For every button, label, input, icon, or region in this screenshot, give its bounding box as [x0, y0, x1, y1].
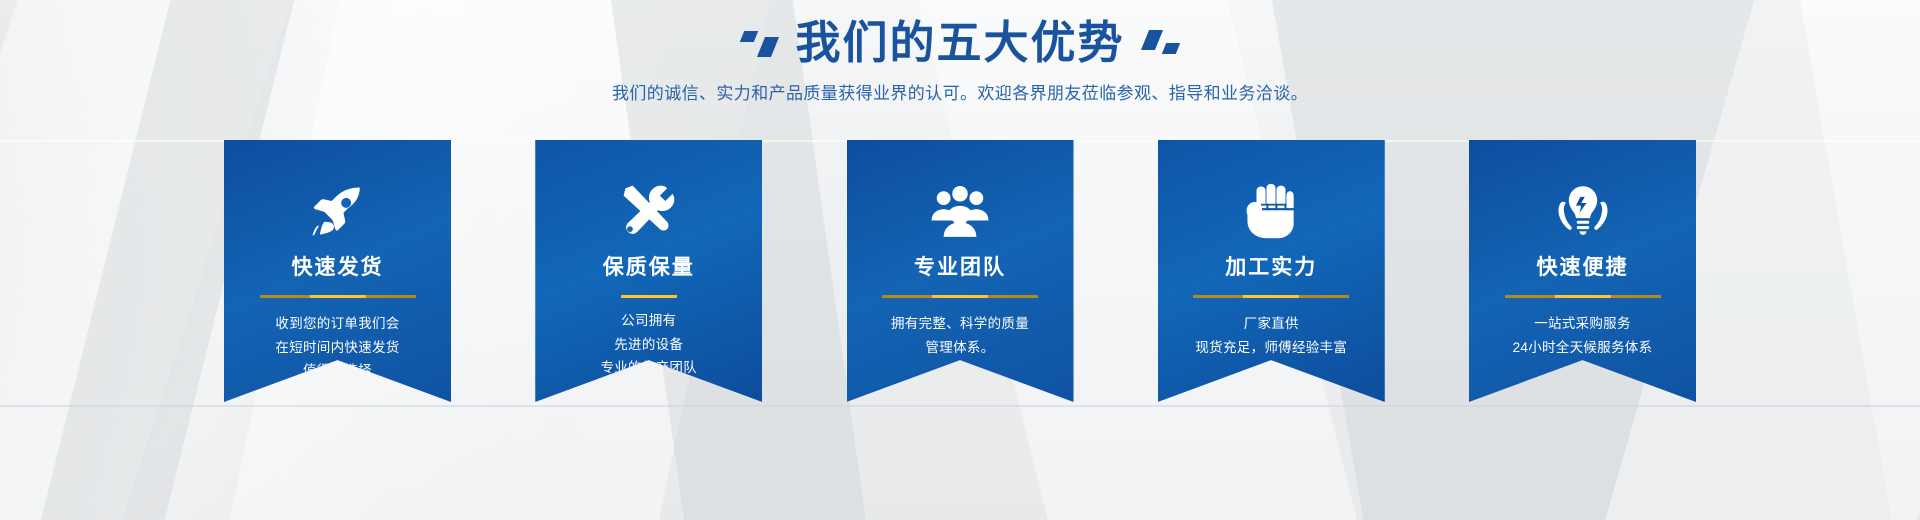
card-divider	[1505, 295, 1661, 298]
card-body-line: 厂家直供	[1195, 312, 1347, 336]
bg-divider-line	[0, 405, 1920, 407]
card-divider	[882, 295, 1038, 298]
advantage-card-convenience[interactable]: 快速便捷 一站式采购服务 24小时全天候服务体系	[1469, 140, 1696, 402]
advantages-banner: 我们的五大优势 我们的诚信、实力和产品质量获得业界的认可。欢迎各界朋友莅临参观、…	[0, 0, 1920, 520]
slash-ornament-right-icon	[1145, 31, 1178, 54]
advantage-card-quality[interactable]: 保质保量 公司拥有 先进的设备 专业的生产团队 专业的技术工人	[535, 140, 762, 402]
card-body: 收到您的订单我们会 在短时间内快速发货 值得您选择	[275, 312, 399, 383]
card-body-line: 拥有完整、科学的质量	[891, 312, 1029, 336]
card-body-line: 值得您选择	[275, 359, 399, 383]
card-divider	[260, 295, 416, 298]
card-title: 快速便捷	[1537, 256, 1629, 279]
card-title: 保质保量	[603, 256, 695, 279]
card-body-line: 现货充足，师傅经验丰富	[1195, 336, 1347, 360]
card-body-line: 公司拥有	[600, 309, 697, 333]
card-body-line: 在短时间内快速发货	[275, 336, 399, 360]
card-body: 拥有完整、科学的质量 管理体系。	[891, 312, 1029, 359]
rocket-icon	[309, 182, 367, 240]
lightbulb-hands-icon	[1552, 182, 1614, 240]
card-body-line: 管理体系。	[891, 336, 1029, 360]
title-row: 我们的五大优势	[0, 0, 1920, 68]
section-header: 我们的五大优势 我们的诚信、实力和产品质量获得业界的认可。欢迎各界朋友莅临参观、…	[0, 0, 1920, 105]
page-subtitle: 我们的诚信、实力和产品质量获得业界的认可。欢迎各界朋友莅临参观、指导和业务洽谈。	[0, 82, 1920, 106]
card-body-line: 专业的技术工人	[600, 380, 697, 404]
card-body: 一站式采购服务 24小时全天候服务体系	[1513, 312, 1653, 359]
team-icon	[929, 182, 991, 240]
advantage-card-list: 快速发货 收到您的订单我们会 在短时间内快速发货 值得您选择 保质保量 公司拥有	[224, 140, 1696, 402]
card-body: 公司拥有 先进的设备 专业的生产团队 专业的技术工人	[600, 309, 697, 404]
page-title: 我们的五大优势	[795, 18, 1124, 68]
card-body-line: 收到您的订单我们会	[275, 312, 399, 336]
slash-ornament-left-icon	[742, 29, 775, 57]
card-body: 厂家直供 现货充足，师傅经验丰富	[1195, 312, 1347, 359]
card-title: 专业团队	[914, 256, 1006, 279]
card-title: 快速发货	[292, 256, 384, 279]
card-body-line: 先进的设备	[600, 333, 697, 357]
advantage-card-capacity[interactable]: 加工实力 厂家直供 现货充足，师傅经验丰富	[1158, 140, 1385, 402]
fist-icon	[1243, 182, 1299, 240]
card-body-line: 一站式采购服务	[1513, 312, 1653, 336]
card-body-line: 专业的生产团队	[600, 356, 697, 380]
tools-icon	[620, 182, 678, 240]
advantage-card-fast-shipping[interactable]: 快速发货 收到您的订单我们会 在短时间内快速发货 值得您选择	[224, 140, 451, 402]
advantage-card-team[interactable]: 专业团队 拥有完整、科学的质量 管理体系。	[847, 140, 1074, 402]
card-title: 加工实力	[1225, 256, 1317, 279]
card-divider	[1193, 295, 1349, 298]
card-body-line: 24小时全天候服务体系	[1513, 336, 1653, 360]
